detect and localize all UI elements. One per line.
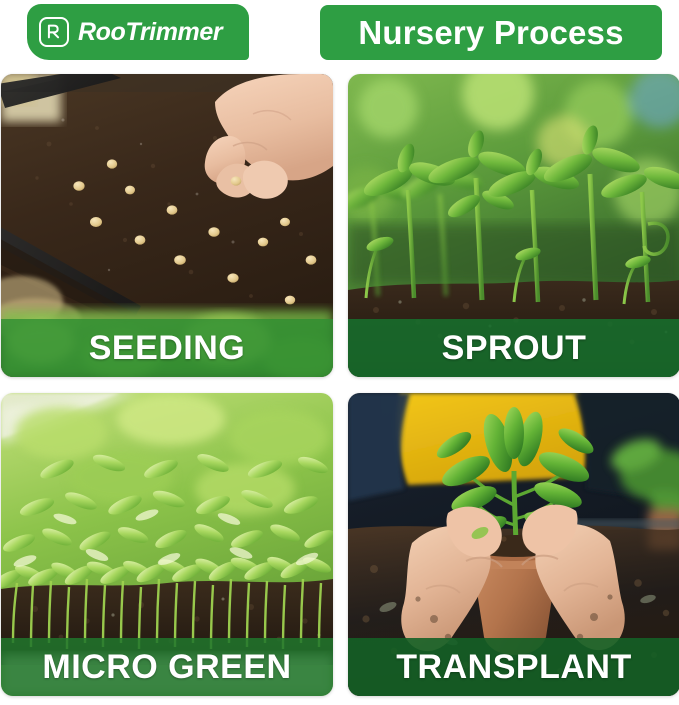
transplant-label: TRANSPLANT bbox=[396, 650, 631, 684]
seeding-label-bar: SEEDING bbox=[1, 319, 333, 377]
page-title-bar: Nursery Process bbox=[320, 5, 662, 60]
panel-sprout[interactable]: SPROUT bbox=[348, 74, 679, 377]
rootrimmer-r-logo-icon bbox=[39, 17, 69, 47]
seeding-label: SEEDING bbox=[89, 331, 246, 365]
process-step-grid: SEEDING bbox=[0, 72, 679, 705]
micro-green-label-bar: MICRO GREEN bbox=[1, 638, 333, 696]
panel-micro-green[interactable]: MICRO GREEN bbox=[1, 393, 333, 696]
page-title: Nursery Process bbox=[358, 16, 623, 49]
brand-logo-badge[interactable]: RooTrimmer bbox=[27, 4, 249, 60]
transplant-label-bar: TRANSPLANT bbox=[348, 638, 679, 696]
sprout-label: SPROUT bbox=[442, 331, 587, 365]
brand-name-label: RooTrimmer bbox=[78, 18, 222, 47]
page-header: RooTrimmer Nursery Process bbox=[0, 0, 679, 72]
panel-transplant[interactable]: TRANSPLANT bbox=[348, 393, 679, 696]
panel-seeding[interactable]: SEEDING bbox=[1, 74, 333, 377]
sprout-label-bar: SPROUT bbox=[348, 319, 679, 377]
micro-green-label: MICRO GREEN bbox=[42, 650, 291, 684]
